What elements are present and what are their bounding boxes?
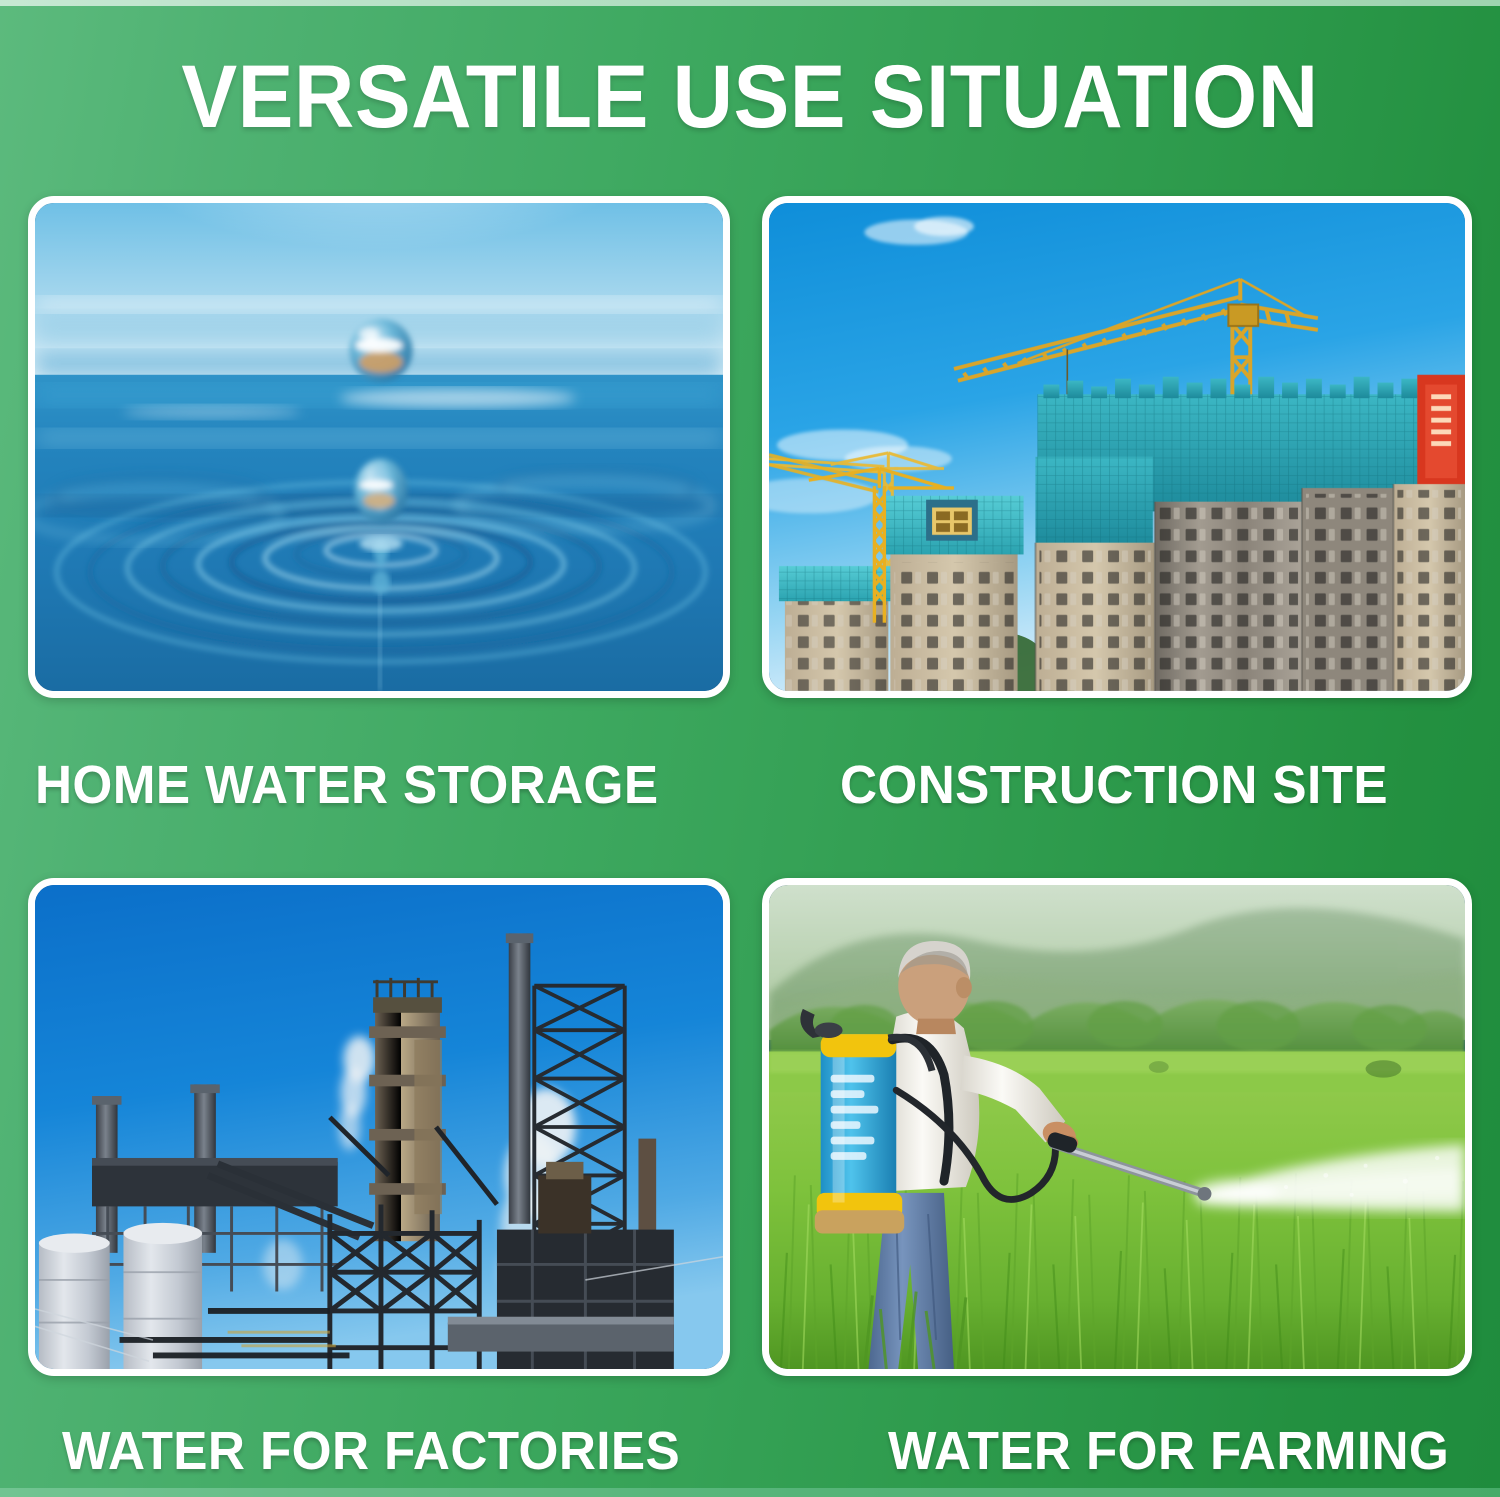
top-rim-divider — [0, 0, 1500, 6]
caption-water-for-factories: WATER FOR FACTORIES — [62, 1422, 680, 1480]
panel-construction-site — [762, 196, 1472, 698]
photo-frame-home-water-storage — [28, 196, 730, 698]
panel-water-for-farming — [762, 878, 1472, 1376]
photo-frame-water-for-factories — [28, 878, 730, 1376]
caption-construction-site: CONSTRUCTION SITE — [840, 756, 1388, 814]
farmer-spraying-field-illustration — [769, 885, 1465, 1369]
photo-frame-water-for-farming — [762, 878, 1472, 1376]
panel-water-for-factories — [28, 878, 730, 1376]
page-title: VERSATILE USE SITUATION — [45, 48, 1455, 144]
industrial-refinery-illustration — [35, 885, 723, 1369]
bottom-rim-divider — [0, 1488, 1500, 1497]
construction-site-illustration — [769, 203, 1465, 691]
panel-home-water-storage — [28, 196, 730, 698]
versatile-use-situation-poster: VERSATILE USE SITUATION — [0, 0, 1500, 1497]
water-droplet-illustration — [35, 203, 723, 691]
photo-frame-construction-site — [762, 196, 1472, 698]
caption-water-for-farming: WATER FOR FARMING — [888, 1422, 1449, 1480]
caption-home-water-storage: HOME WATER STORAGE — [35, 756, 658, 814]
